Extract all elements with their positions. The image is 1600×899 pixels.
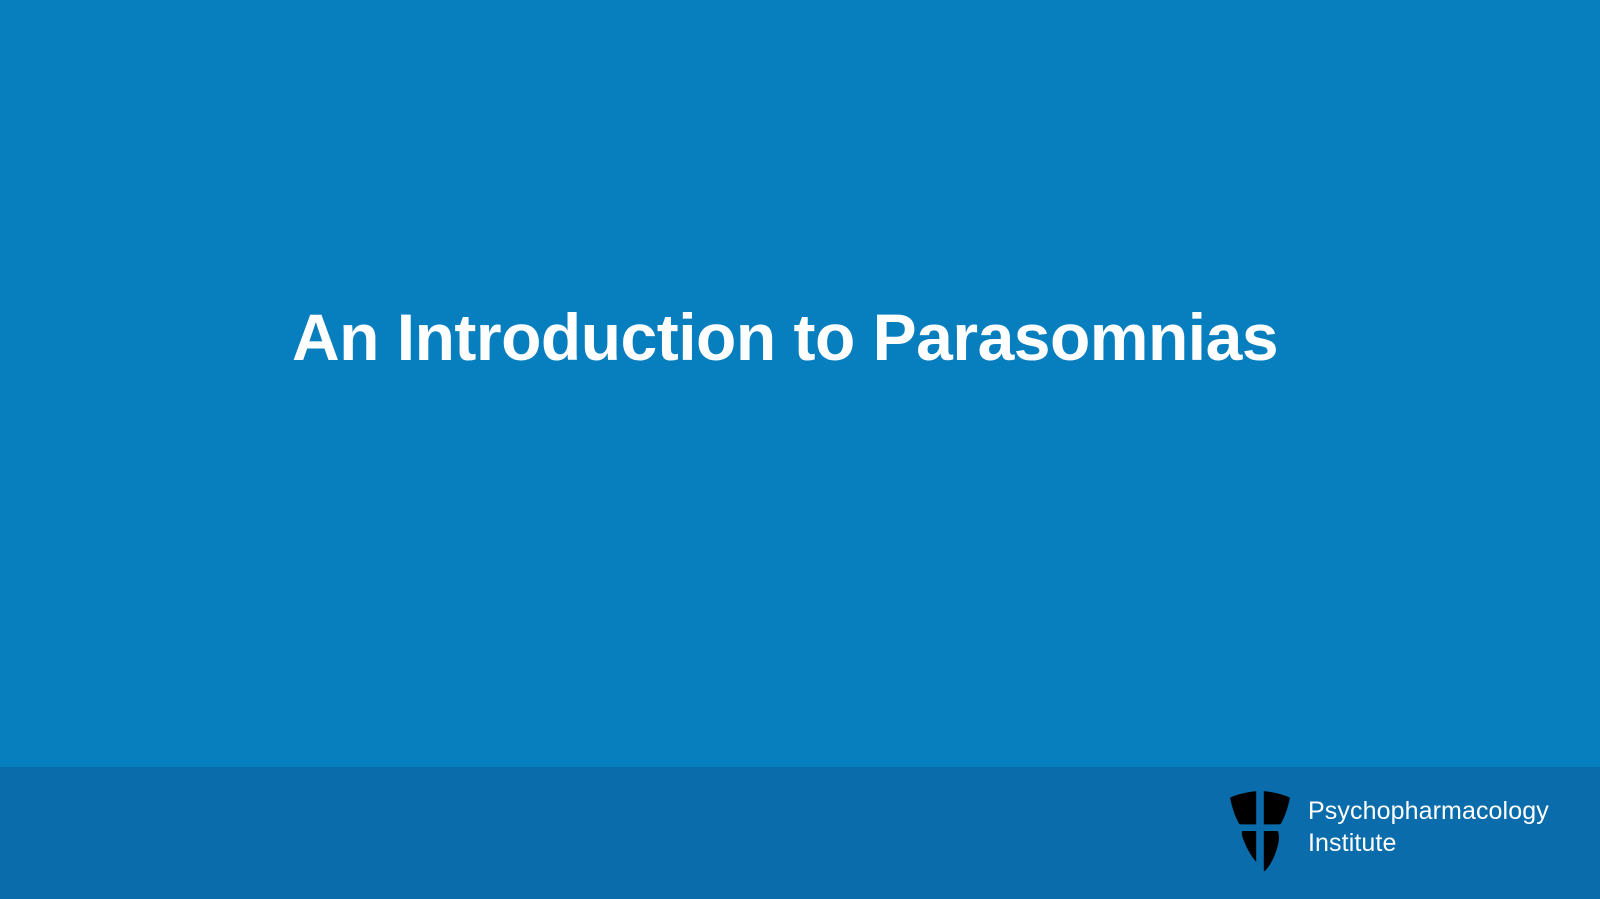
- brand-logo-lockup: Psychopharmacology Institute: [1229, 790, 1549, 872]
- shield-cross-icon: [1229, 790, 1291, 872]
- brand-name-line-1: Psychopharmacology: [1308, 795, 1549, 827]
- brand-name: Psychopharmacology Institute: [1308, 790, 1549, 859]
- title-slide: An Introduction to Parasomnias Psychopha…: [0, 0, 1600, 899]
- brand-name-line-2: Institute: [1308, 827, 1549, 859]
- slide-background-upper: [0, 0, 1600, 767]
